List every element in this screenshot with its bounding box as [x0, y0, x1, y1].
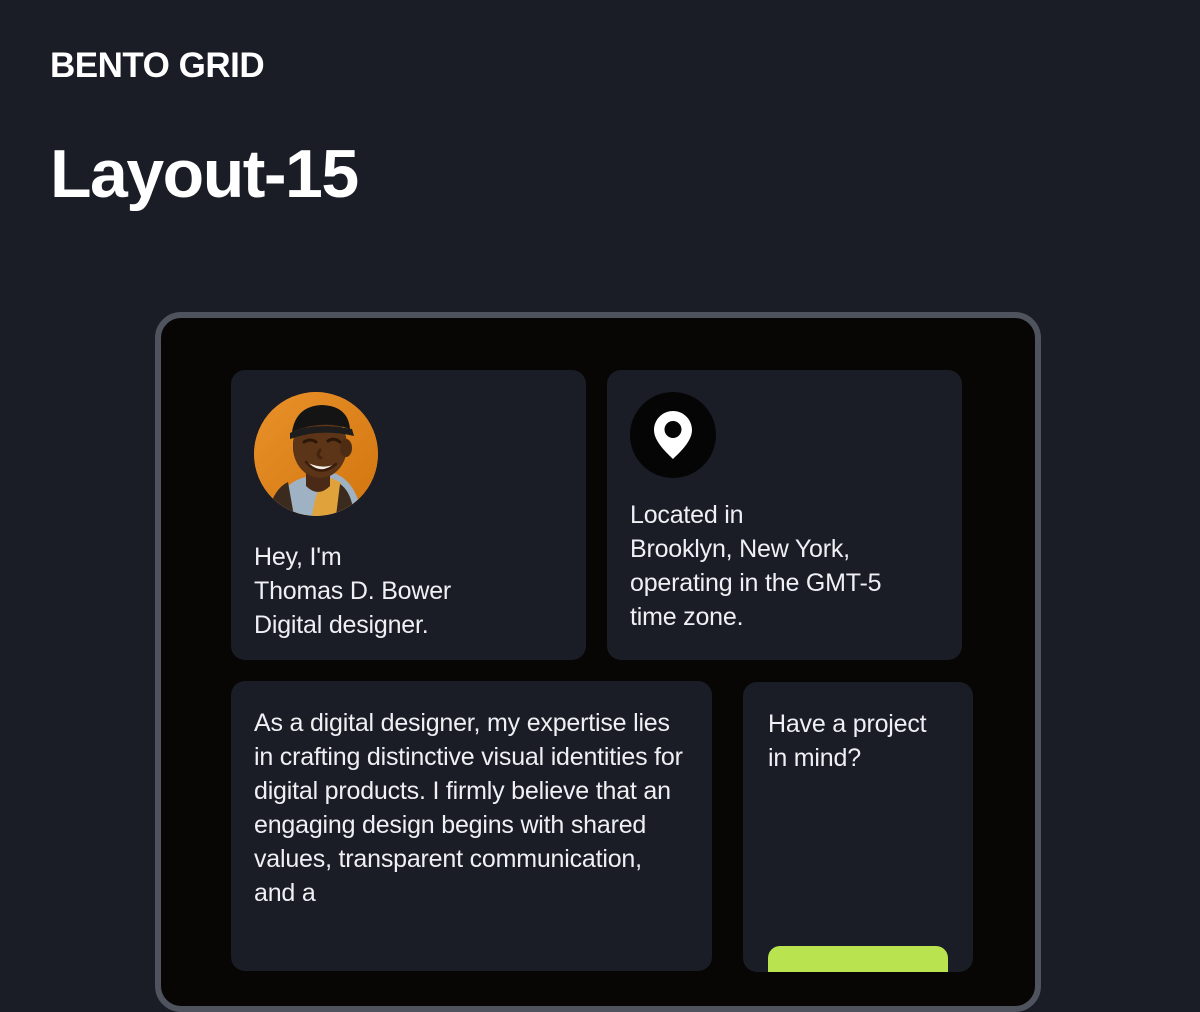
map-pin-badge [630, 392, 716, 478]
location-text: Located in Brooklyn, New York, operating… [630, 478, 939, 634]
avatar [254, 392, 378, 516]
page-header: BENTO GRID Layout-15 [50, 48, 750, 208]
profile-text: Hey, I'm Thomas D. Bower Digital designe… [254, 516, 563, 642]
bio-text: As a digital designer, my expertise lies… [254, 703, 689, 910]
map-pin-icon [652, 410, 694, 460]
card-bio[interactable]: As a digital designer, my expertise lies… [231, 681, 712, 971]
page-title: Layout-15 [50, 83, 750, 208]
device-frame: Hey, I'm Thomas D. Bower Digital designe… [155, 312, 1041, 1012]
user-avatar-photo-icon [254, 392, 378, 516]
card-profile[interactable]: Hey, I'm Thomas D. Bower Digital designe… [231, 370, 586, 660]
eyebrow-label: BENTO GRID [50, 48, 750, 83]
cta-heading: Have a project in mind? [768, 704, 948, 775]
card-location[interactable]: Located in Brooklyn, New York, operating… [607, 370, 962, 660]
card-cta[interactable]: Have a project in mind? [743, 682, 973, 972]
frame-inner: Hey, I'm Thomas D. Bower Digital designe… [161, 318, 1035, 1006]
contact-button[interactable] [768, 946, 948, 972]
